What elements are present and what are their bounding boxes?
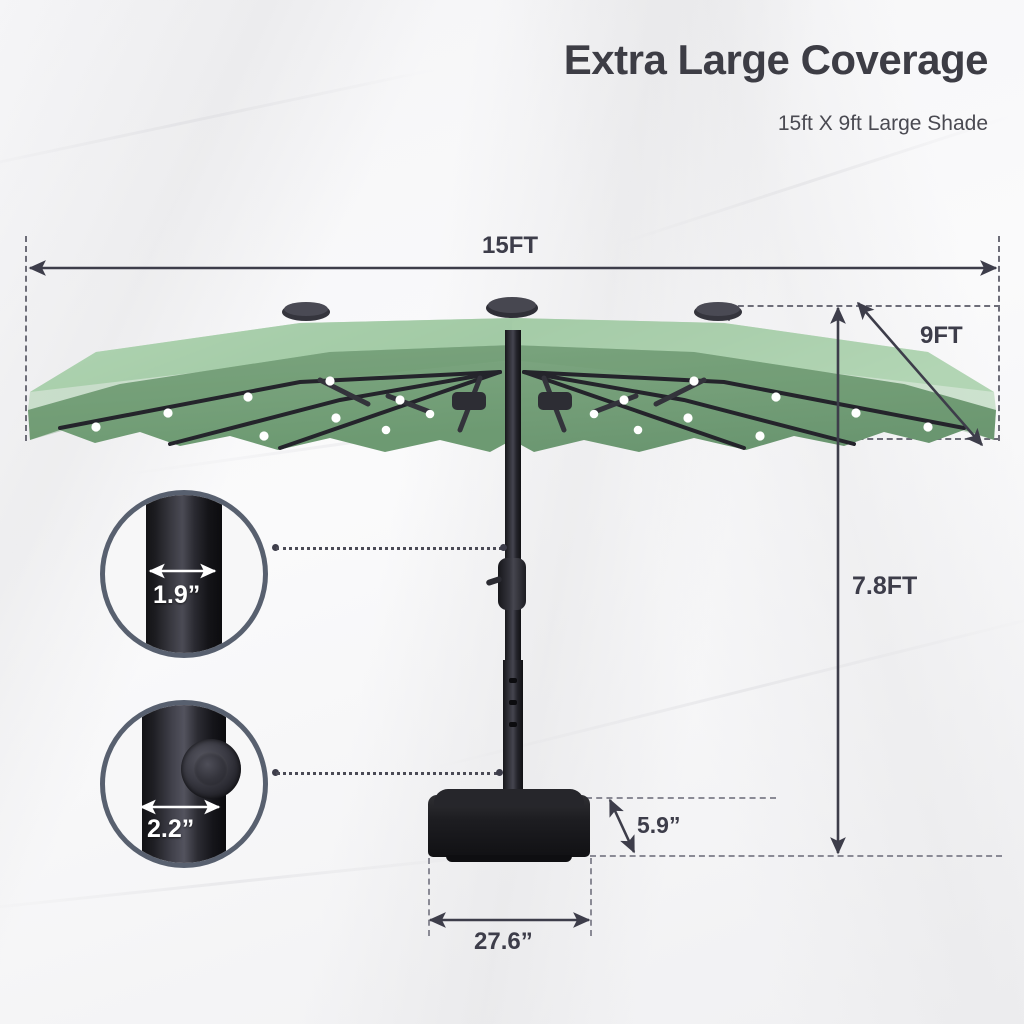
- bg-streak: [0, 68, 435, 175]
- leader-dot-end-2: [496, 769, 503, 776]
- label-base-width-276in: 27.6”: [474, 928, 533, 956]
- label-depth-9ft: 9FT: [920, 322, 963, 350]
- leader-line-1: [276, 547, 502, 550]
- guide-base-left-vertical: [428, 858, 430, 936]
- bg-streak: [123, 387, 737, 476]
- guide-left-vertical: [25, 236, 27, 441]
- label-base-height-59in: 5.9”: [637, 812, 680, 839]
- guide-top-horizontal: [728, 305, 1000, 307]
- umbrella-base: [428, 795, 590, 857]
- guide-canopy-bottom-horizontal: [838, 438, 1000, 440]
- guide-right-vertical: [998, 236, 1000, 441]
- guide-base-right-vertical: [590, 858, 592, 936]
- label-height-78ft: 7.8FT: [852, 572, 917, 601]
- crank-housing: [498, 558, 526, 610]
- guide-9ft-right-vertical: [728, 305, 730, 439]
- guide-base-top-horizontal: [586, 797, 776, 799]
- callout-value-1: 1.9”: [153, 581, 200, 610]
- callout-value-2: 2.2”: [147, 815, 194, 844]
- guide-ground-horizontal: [590, 855, 1002, 857]
- arrow-base-height-59in: [610, 800, 634, 852]
- callout-arrow-1: [105, 495, 268, 658]
- leader-dot-end-1: [500, 544, 507, 551]
- page-title: Extra Large Coverage: [564, 36, 988, 84]
- label-width-15ft: 15FT: [482, 232, 538, 260]
- page-subtitle: 15ft X 9ft Large Shade: [778, 112, 988, 136]
- callout-pole-diameter: 1.9”: [100, 490, 268, 658]
- callout-crank-diameter: 2.2”: [100, 700, 268, 868]
- bg-streak: [429, 613, 1024, 771]
- product-dimension-diagram: Extra Large Coverage 15ft X 9ft Large Sh…: [0, 0, 1024, 1024]
- leader-line-2: [276, 772, 498, 775]
